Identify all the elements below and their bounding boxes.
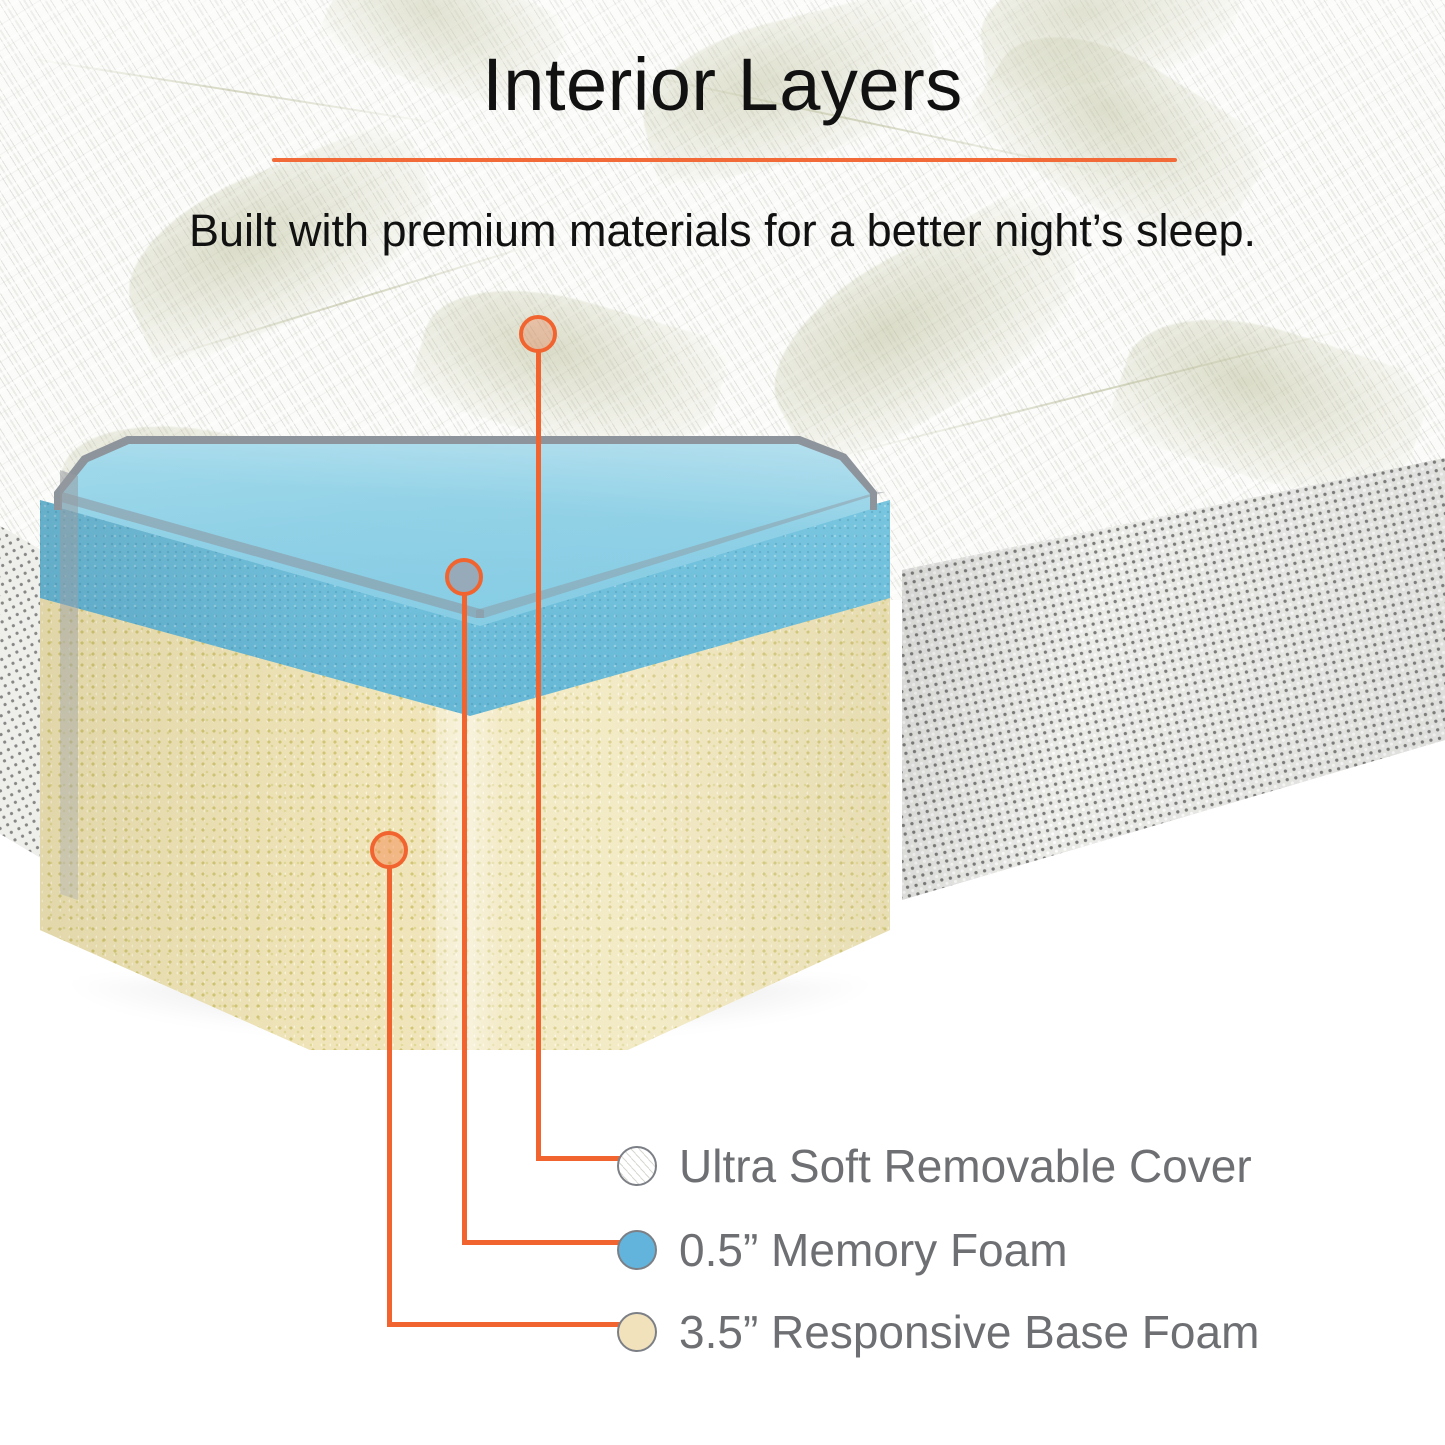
base-foam-leader-vertical <box>387 868 392 1326</box>
cover-leader-vertical <box>536 352 541 1160</box>
cover-hotspot[interactable] <box>519 315 557 353</box>
memory-foam-leader-vertical <box>462 595 467 1245</box>
title-underline <box>272 158 1177 162</box>
base-foam-leader-horizontal <box>387 1322 634 1327</box>
legend-item-memory-foam[interactable]: 0.5” Memory Foam <box>617 1222 1068 1278</box>
legend-label-base-foam: 3.5” Responsive Base Foam <box>679 1305 1259 1359</box>
memory-foam-hotspot[interactable] <box>445 558 483 596</box>
memory-foam-leader-horizontal <box>462 1240 634 1245</box>
cover-swatch-icon <box>617 1146 657 1186</box>
legend-label-cover: Ultra Soft Removable Cover <box>679 1139 1252 1193</box>
page-title: Interior Layers <box>0 42 1445 127</box>
legend-item-cover[interactable]: Ultra Soft Removable Cover <box>617 1138 1252 1194</box>
page-subtitle: Built with premium materials for a bette… <box>0 205 1445 257</box>
memory-foam-swatch-icon <box>617 1230 657 1270</box>
legend-label-memory-foam: 0.5” Memory Foam <box>679 1223 1068 1277</box>
mattress-cutaway <box>0 440 980 1060</box>
legend-item-base-foam[interactable]: 3.5” Responsive Base Foam <box>617 1304 1259 1360</box>
interior-layers-infographic: Interior Layers Built with premium mater… <box>0 0 1445 1445</box>
base-foam-hotspot[interactable] <box>370 831 408 869</box>
base-foam-swatch-icon <box>617 1312 657 1352</box>
